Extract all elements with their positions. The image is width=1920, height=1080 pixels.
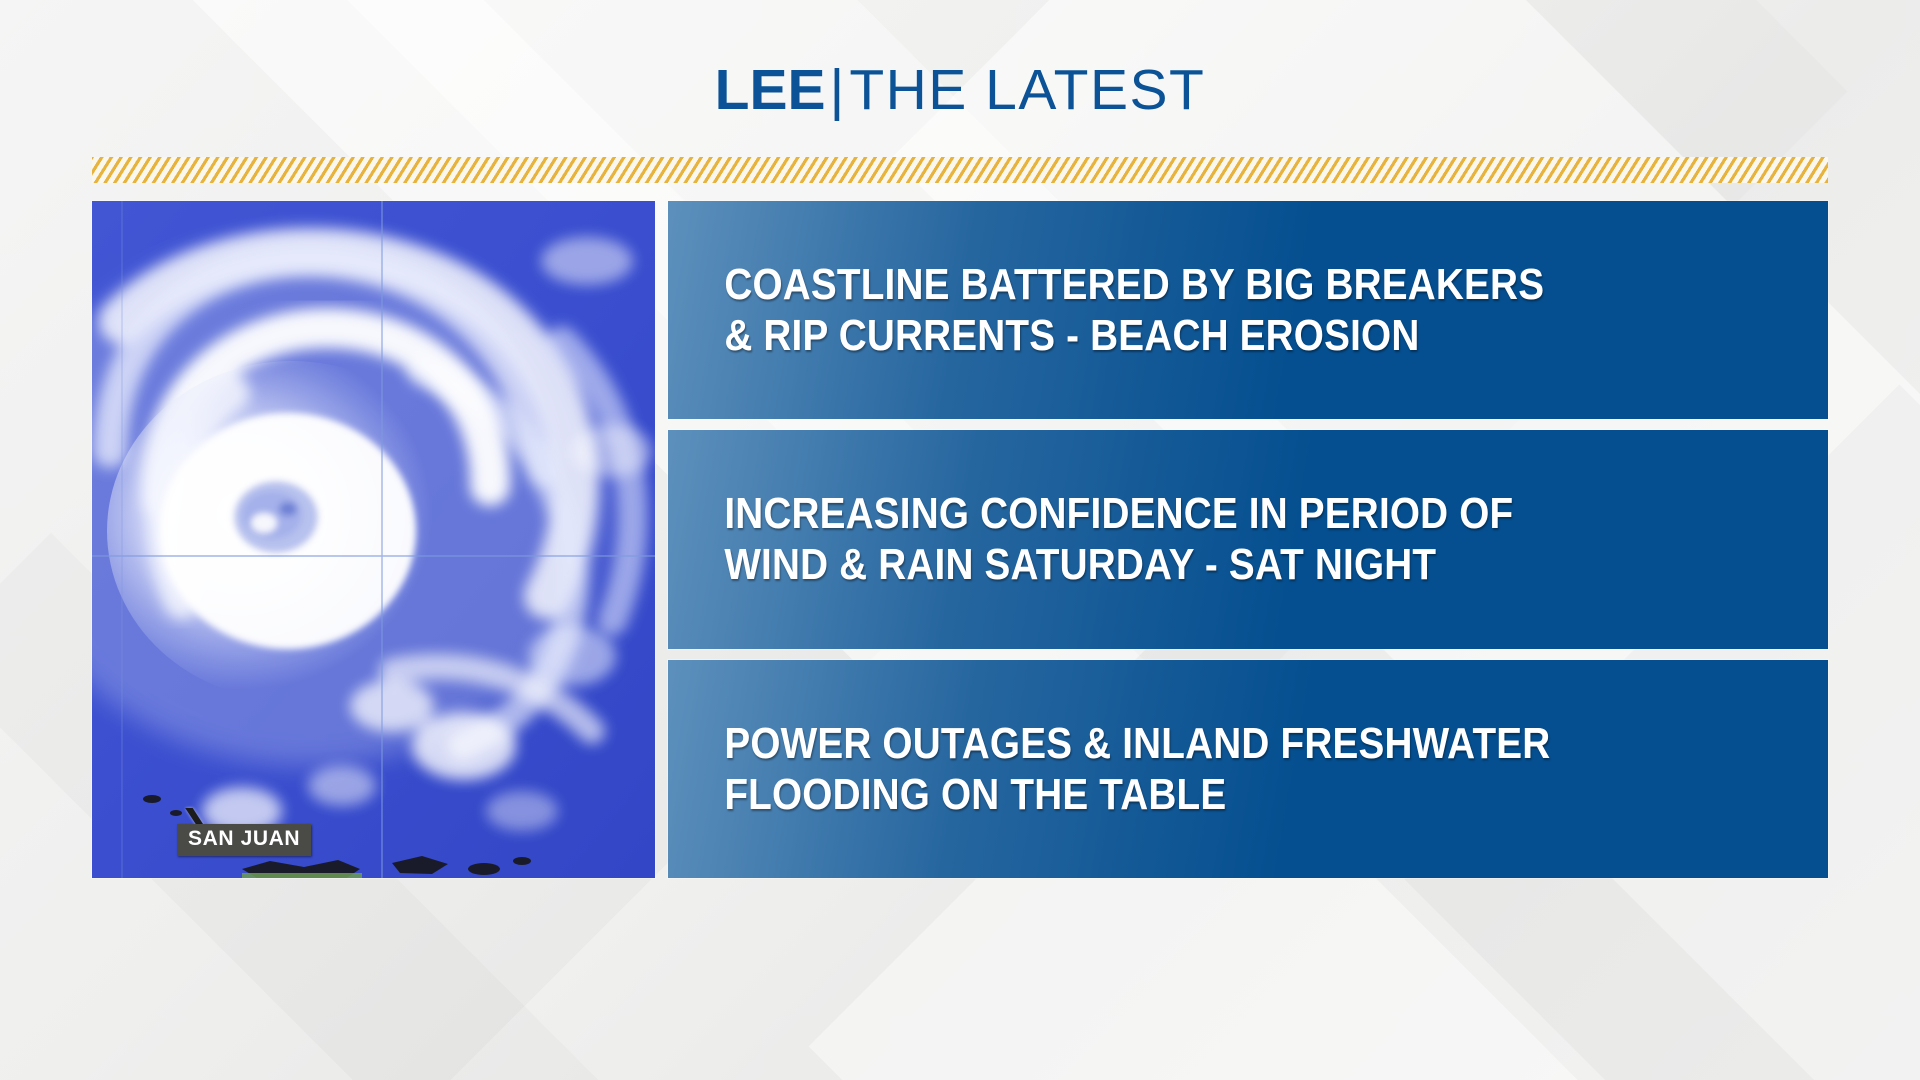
header-subtitle: THE LATEST: [849, 58, 1205, 122]
bullet-line: WIND & RAIN SATURDAY - SAT NIGHT: [724, 539, 1653, 590]
bullet-line: & RIP CURRENTS - BEACH EROSION: [724, 310, 1653, 361]
city-label-san-juan: SAN JUAN: [177, 824, 311, 856]
bullet-panel: POWER OUTAGES & INLAND FRESHWATER FLOODI…: [668, 660, 1828, 878]
bullet-panel-list: COASTLINE BATTERED BY BIG BREAKERS & RIP…: [668, 201, 1828, 878]
header-title-group: LEE|THE LATEST: [715, 62, 1206, 119]
broadcast-graphic: LEE|THE LATEST: [0, 0, 1920, 1080]
bullet-panel: INCREASING CONFIDENCE IN PERIOD OF WIND …: [668, 430, 1828, 648]
bullet-panel-text: INCREASING CONFIDENCE IN PERIOD OF WIND …: [668, 488, 1689, 590]
storm-name: LEE: [715, 58, 826, 122]
bullet-line: INCREASING CONFIDENCE IN PERIOD OF: [724, 488, 1653, 539]
gold-hatched-divider: [92, 157, 1828, 183]
bullet-line: FLOODING ON THE TABLE: [724, 769, 1653, 820]
bullet-line: COASTLINE BATTERED BY BIG BREAKERS: [724, 259, 1653, 310]
bullet-panel-text: POWER OUTAGES & INLAND FRESHWATER FLOODI…: [668, 718, 1689, 820]
graphic-header: LEE|THE LATEST: [0, 62, 1920, 119]
satellite-image-panel: ❯ SAN JUAN: [92, 201, 655, 878]
bullet-panel: COASTLINE BATTERED BY BIG BREAKERS & RIP…: [668, 201, 1828, 419]
bullet-line: POWER OUTAGES & INLAND FRESHWATER: [724, 718, 1653, 769]
header-separator: |: [826, 58, 850, 122]
bullet-panel-text: COASTLINE BATTERED BY BIG BREAKERS & RIP…: [668, 259, 1689, 361]
hurricane-satellite-svg: [92, 201, 655, 878]
